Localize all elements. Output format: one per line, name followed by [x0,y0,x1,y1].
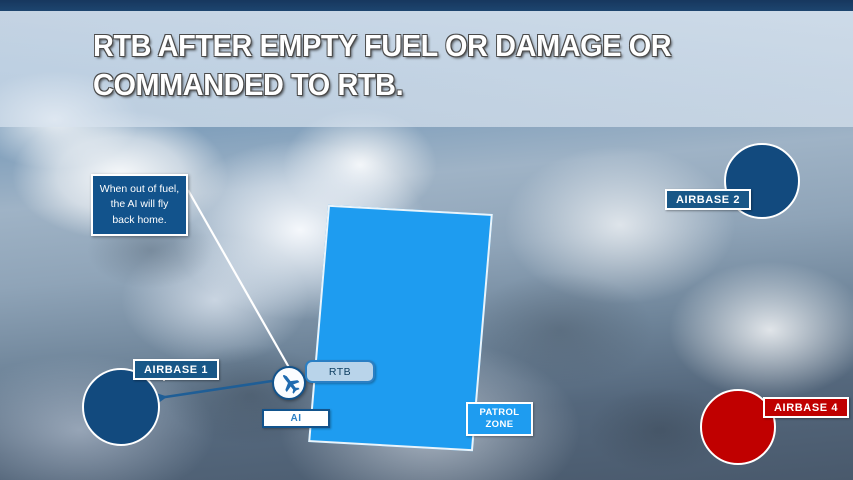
callout-line-1: When out of fuel, [100,182,179,197]
ai-label[interactable]: AI [262,409,330,428]
slide-title: RTB AFTER EMPTY FUEL OR DAMAGE OR COMMAN… [93,26,744,104]
patrol-zone-label-line-1: PATROL [479,407,519,419]
airbase-1-label[interactable]: AIRBASE 1 [133,359,219,380]
fighter-jet-icon [277,371,305,399]
patrol-zone-label[interactable]: PATROL ZONE [466,402,533,436]
callout-line-3: back home. [100,213,179,228]
ai-aircraft-icon[interactable] [272,366,306,400]
presentation-slide: RTB AFTER EMPTY FUEL OR DAMAGE OR COMMAN… [0,0,853,480]
top-accent-strip [0,0,853,11]
callout-line-2: the AI will fly [100,197,179,212]
airbase-2-label[interactable]: AIRBASE 2 [665,189,751,210]
rtb-label[interactable]: RTB [305,360,375,383]
patrol-zone-label-line-2: ZONE [479,419,519,431]
airbase-4-label[interactable]: AIRBASE 4 [763,397,849,418]
fuel-callout-box: When out of fuel, the AI will fly back h… [91,174,188,236]
